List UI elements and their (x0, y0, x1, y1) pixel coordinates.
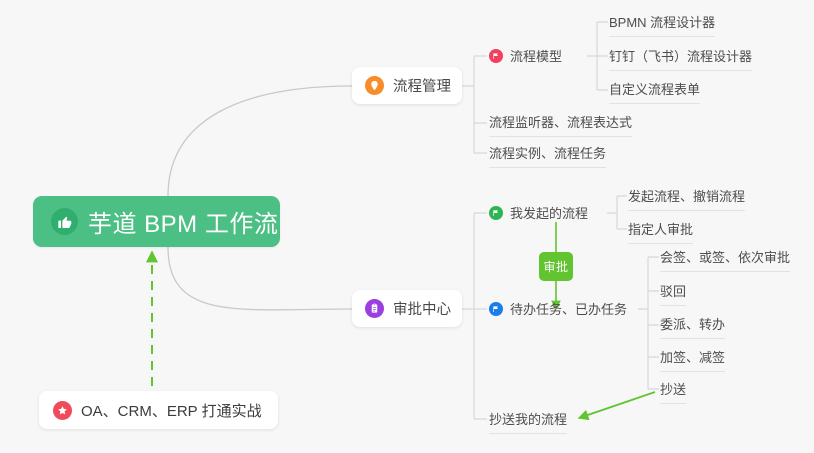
callout-label: OA、CRM、ERP 打通实战 (81, 400, 262, 421)
leaf-start-cancel-process[interactable]: 发起流程、撤销流程 (628, 186, 745, 211)
edge-label-approve: 审批 (539, 252, 573, 281)
flag-icon (489, 206, 503, 220)
clipboard-icon (365, 299, 384, 318)
root-node[interactable]: 芋道 BPM 工作流 (33, 196, 280, 247)
node-my-started-process[interactable]: 我发起的流程 (489, 203, 588, 222)
branch-label: 流程管理 (393, 75, 451, 96)
root-label: 芋道 BPM 工作流 (88, 204, 278, 239)
node-process-model[interactable]: 流程模型 (489, 46, 562, 65)
leaf-assignee-approval[interactable]: 指定人审批 (628, 219, 693, 244)
location-pin-icon (365, 76, 384, 95)
flag-icon (489, 49, 503, 63)
flag-icon (489, 302, 503, 316)
leaf-countersign-orsign-sequential[interactable]: 会签、或签、依次审批 (660, 247, 790, 272)
node-label: 待办任务、已办任务 (510, 299, 627, 318)
arrow-cc-to-ccmyprocess (579, 392, 655, 418)
leaf-custom-process-form[interactable]: 自定义流程表单 (609, 79, 700, 104)
leaf-process-listener-expression[interactable]: 流程监听器、流程表达式 (489, 112, 632, 137)
wire-model-trunk (587, 22, 608, 90)
branch-node-approval-center[interactable]: 审批中心 (352, 290, 462, 327)
wire-todo-trunk (638, 257, 659, 389)
leaf-cc-my-process[interactable]: 抄送我的流程 (489, 409, 567, 434)
leaf-add-remove-sign[interactable]: 加签、减签 (660, 347, 725, 372)
node-label: 流程模型 (510, 46, 562, 65)
leaf-delegate-transfer[interactable]: 委派、转办 (660, 314, 725, 339)
star-icon (53, 401, 72, 420)
leaf-process-instance-task[interactable]: 流程实例、流程任务 (489, 143, 606, 168)
callout-node-oa-crm-erp[interactable]: OA、CRM、ERP 打通实战 (39, 391, 278, 429)
wire-root-to-approval (168, 247, 352, 310)
branch-label: 审批中心 (393, 298, 451, 319)
node-label: 我发起的流程 (510, 203, 588, 222)
wire-approval-trunk (462, 213, 487, 419)
thumbs-up-icon (51, 208, 78, 235)
node-todo-done-tasks[interactable]: 待办任务、已办任务 (489, 299, 627, 318)
leaf-bpmn-designer[interactable]: BPMN 流程设计器 (609, 12, 715, 37)
leaf-cc[interactable]: 抄送 (660, 379, 686, 404)
wire-process-trunk (462, 56, 487, 153)
wire-mystarted-trunk (607, 196, 627, 229)
wire-root-to-process (168, 86, 352, 196)
leaf-dingtalk-feishu-designer[interactable]: 钉钉（飞书）流程设计器 (609, 46, 752, 71)
mindmap-canvas: 芋道 BPM 工作流 流程管理 审批中心 流程模型 BPMN 流程设计器 钉钉（… (0, 0, 814, 453)
leaf-reject[interactable]: 驳回 (660, 281, 686, 306)
branch-node-process-management[interactable]: 流程管理 (352, 67, 462, 104)
